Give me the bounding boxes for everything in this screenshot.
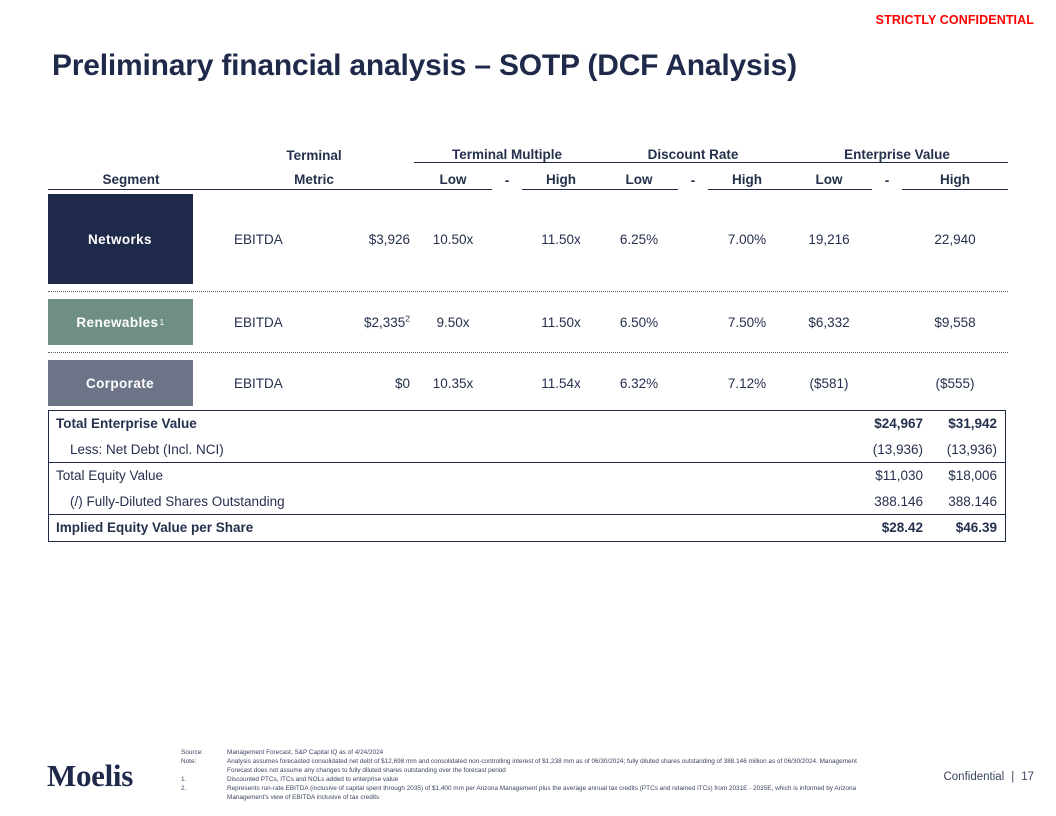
dr-low-corporate: 6.32% xyxy=(600,356,678,410)
footer-page-number: 17 xyxy=(1021,771,1034,783)
segment-label: Corporate xyxy=(86,376,154,391)
metric-value-corporate: $0 xyxy=(314,356,414,410)
summary-label: Less: Net Debt (Incl. NCI) xyxy=(49,437,845,463)
metric-networks: EBITDA xyxy=(214,190,314,289)
summary-low-value: $28.42 xyxy=(845,515,931,541)
segment-cell-corporate: Corporate xyxy=(48,356,214,410)
dotted-divider-line xyxy=(48,352,1008,353)
footnote-source: Source: Management Forecast, S&P Capital… xyxy=(181,748,881,757)
summary-high-value: $31,942 xyxy=(931,411,1005,437)
header-segment: Segment xyxy=(48,163,214,190)
tm-dash-corporate xyxy=(492,356,522,410)
dr-dash-networks xyxy=(678,190,708,289)
header-terminal-multiple-dash: - xyxy=(492,163,522,190)
footer-separator: | xyxy=(1011,771,1014,783)
metric-value-footnote-marker: 2 xyxy=(405,313,410,323)
footnote-2: 2. Represents run-rate EBITDA (inclusive… xyxy=(181,784,881,802)
header-discount-rate-high: High xyxy=(708,163,786,190)
segment-badge-renewables: Renewables1 xyxy=(48,299,193,345)
footnote-text: Management Forecast, S&P Capital IQ as o… xyxy=(227,748,881,757)
footnote-note: Note: Analysis assumes forecasted consol… xyxy=(181,757,881,775)
strictly-confidential-banner: STRICTLY CONFIDENTIAL xyxy=(876,13,1034,27)
table-group-header-row: Terminal Terminal Multiple Discount Rate… xyxy=(48,142,1008,163)
segment-badge-networks: Networks xyxy=(48,194,193,284)
summary-row-implied-equity-value-per-share: Implied Equity Value per Share $28.42 $4… xyxy=(49,515,1005,541)
dr-high-networks: 7.00% xyxy=(708,190,786,289)
header-discount-rate-dash: - xyxy=(678,163,708,190)
summary-high-value: (13,936) xyxy=(931,437,1005,463)
footnote-key: 1. xyxy=(181,775,227,784)
metric-renewables: EBITDA xyxy=(214,295,314,349)
ev-high-corporate: ($555) xyxy=(902,356,1008,410)
summary-box: Total Enterprise Value $24,967 $31,942 L… xyxy=(48,410,1006,542)
metric-corporate: EBITDA xyxy=(214,356,314,410)
dr-high-renewables: 7.50% xyxy=(708,295,786,349)
metric-value-text: $2,335 xyxy=(364,315,405,330)
footnote-text: Discounted PTCs, ITCs and NOLs added to … xyxy=(227,775,881,784)
ev-low-corporate: ($581) xyxy=(786,356,872,410)
tm-low-corporate: 10.35x xyxy=(414,356,492,410)
row-divider-cell xyxy=(48,349,1008,356)
header-group-enterprise-value: Enterprise Value xyxy=(786,142,1008,163)
summary-low-value: 388.146 xyxy=(845,489,931,515)
dr-low-renewables: 6.50% xyxy=(600,295,678,349)
table-row: Renewables1 EBITDA $2,3352 9.50x 11.50x … xyxy=(48,295,1008,349)
summary-label: Implied Equity Value per Share xyxy=(49,515,845,541)
summary-low-value: $11,030 xyxy=(845,463,931,489)
summary-high-value: $18,006 xyxy=(931,463,1005,489)
row-divider xyxy=(48,349,1008,356)
footnotes-block: Source: Management Forecast, S&P Capital… xyxy=(181,748,881,803)
footnote-key: 2. xyxy=(181,784,227,802)
summary-low-value: $24,967 xyxy=(845,411,931,437)
summary-label: Total Enterprise Value xyxy=(49,411,845,437)
footnote-key: Source: xyxy=(181,748,227,757)
header-terminal-multiple-high: High xyxy=(522,163,600,190)
metric-value-text: $0 xyxy=(395,376,410,391)
ev-dash-corporate xyxy=(872,356,902,410)
summary-row-total-equity-value: Total Equity Value $11,030 $18,006 xyxy=(49,463,1005,489)
segment-label: Renewables xyxy=(76,315,158,330)
page-footer: Confidential|17 xyxy=(943,771,1034,783)
metric-value-renewables: $2,3352 xyxy=(314,295,414,349)
ev-dash-networks xyxy=(872,190,902,289)
header-terminal-metric: Metric xyxy=(214,163,414,190)
summary-row-total-enterprise-value: Total Enterprise Value $24,967 $31,942 xyxy=(49,411,1005,437)
header-spacer-segment xyxy=(48,142,214,163)
header-terminal-multiple-low: Low xyxy=(414,163,492,190)
header-discount-rate-low: Low xyxy=(600,163,678,190)
summary-row-less-net-debt: Less: Net Debt (Incl. NCI) (13,936) (13,… xyxy=(49,437,1005,463)
tm-low-networks: 10.50x xyxy=(414,190,492,289)
ev-high-renewables: $9,558 xyxy=(902,295,1008,349)
summary-row-fully-diluted-shares: (/) Fully-Diluted Shares Outstanding 388… xyxy=(49,489,1005,515)
summary-label: (/) Fully-Diluted Shares Outstanding xyxy=(49,489,845,515)
ev-dash-renewables xyxy=(872,295,902,349)
dotted-divider-line xyxy=(48,291,1008,292)
header-group-terminal-multiple: Terminal Multiple xyxy=(414,142,600,163)
metric-value-text: $3,926 xyxy=(369,232,410,247)
header-group-discount-rate: Discount Rate xyxy=(600,142,786,163)
segment-badge-corporate: Corporate xyxy=(48,360,193,406)
ev-low-networks: 19,216 xyxy=(786,190,872,289)
row-divider xyxy=(48,288,1008,295)
tm-high-corporate: 11.54x xyxy=(522,356,600,410)
tm-low-renewables: 9.50x xyxy=(414,295,492,349)
dr-dash-corporate xyxy=(678,356,708,410)
summary-label: Total Equity Value xyxy=(49,463,845,489)
dr-low-networks: 6.25% xyxy=(600,190,678,289)
segment-label: Networks xyxy=(88,232,152,247)
header-enterprise-value-high: High xyxy=(902,163,1008,190)
footnote-1: 1. Discounted PTCs, ITCs and NOLs added … xyxy=(181,775,881,784)
sotp-table-container: Terminal Terminal Multiple Discount Rate… xyxy=(48,142,1008,410)
header-enterprise-value-low: Low xyxy=(786,163,872,190)
segment-cell-renewables: Renewables1 xyxy=(48,295,214,349)
summary-low-value: (13,936) xyxy=(845,437,931,463)
footnote-text: Analysis assumes forecasted consolidated… xyxy=(227,757,881,775)
dr-dash-renewables xyxy=(678,295,708,349)
tm-dash-renewables xyxy=(492,295,522,349)
tm-dash-networks xyxy=(492,190,522,289)
metric-value-networks: $3,926 xyxy=(314,190,414,289)
tm-high-networks: 11.50x xyxy=(522,190,600,289)
summary-table: Total Enterprise Value $24,967 $31,942 L… xyxy=(49,411,1005,541)
table-row: Networks EBITDA $3,926 10.50x 11.50x 6.2… xyxy=(48,190,1008,289)
ev-high-networks: 22,940 xyxy=(902,190,1008,289)
table-row: Corporate EBITDA $0 10.35x 11.54x 6.32% … xyxy=(48,356,1008,410)
moelis-logo: Moelis xyxy=(47,758,133,794)
segment-cell-networks: Networks xyxy=(48,190,214,289)
page-title: Preliminary financial analysis – SOTP (D… xyxy=(52,49,797,83)
ev-low-renewables: $6,332 xyxy=(786,295,872,349)
footnote-key: Note: xyxy=(181,757,227,775)
summary-high-value: $46.39 xyxy=(931,515,1005,541)
sotp-table: Terminal Terminal Multiple Discount Rate… xyxy=(48,142,1008,410)
row-divider-cell xyxy=(48,288,1008,295)
header-enterprise-value-dash: - xyxy=(872,163,902,190)
tm-high-renewables: 11.50x xyxy=(522,295,600,349)
summary-high-value: 388.146 xyxy=(931,489,1005,515)
footer-confidential-label: Confidential xyxy=(943,771,1004,783)
header-terminal-line1: Terminal xyxy=(214,142,414,163)
dr-high-corporate: 7.12% xyxy=(708,356,786,410)
footnote-text: Represents run-rate EBITDA (inclusive of… xyxy=(227,784,881,802)
table-sub-header-row: Segment Metric Low - High Low - High Low… xyxy=(48,163,1008,190)
